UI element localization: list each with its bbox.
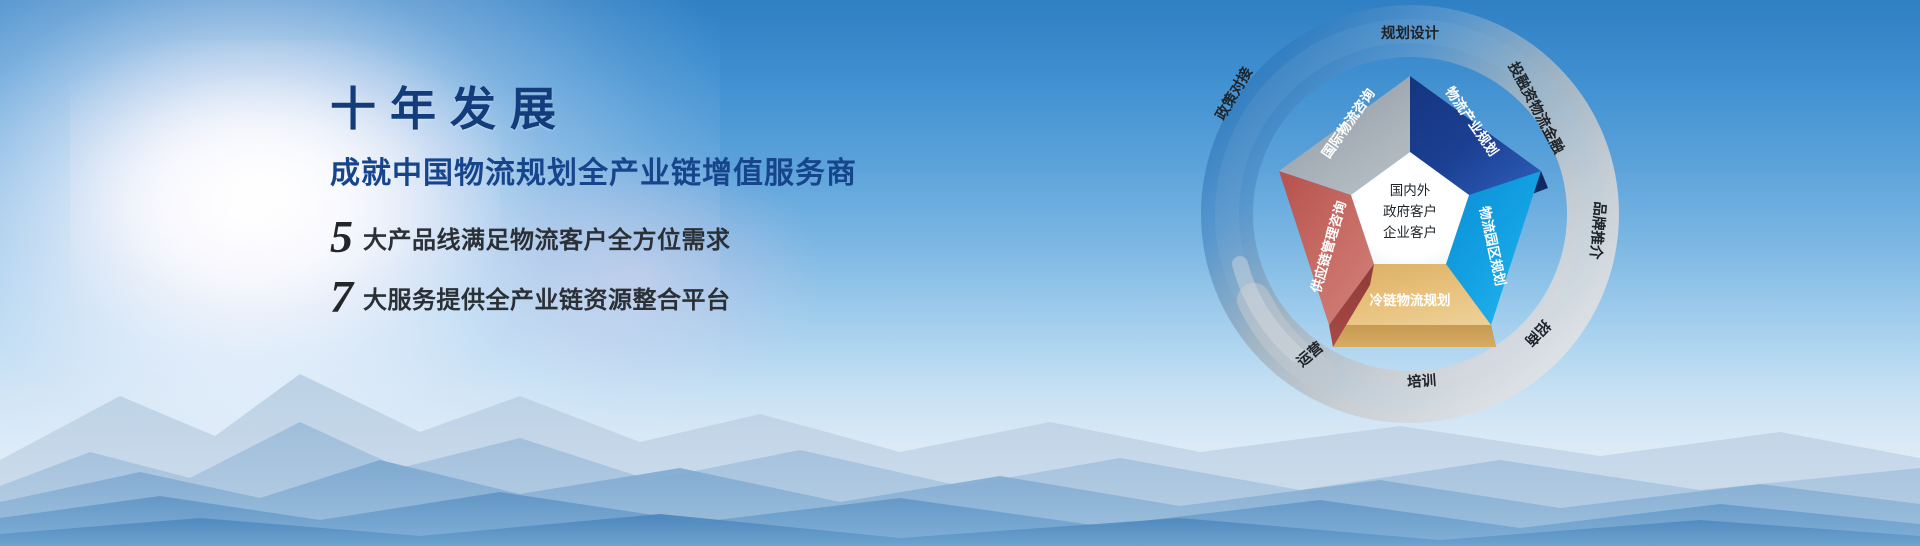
bullet-text: 大产品线满足物流客户全方位需求 bbox=[363, 220, 731, 255]
page-title: 十年发展 bbox=[330, 84, 950, 135]
bullet-number: 7 bbox=[330, 274, 353, 320]
segment-label: 冷链物流规划 bbox=[1370, 292, 1451, 308]
ring-label-planning-design[interactable]: 规划设计 bbox=[1381, 24, 1439, 42]
copy-block: 十年发展 成就中国物流规划全产业链增值服务商 5 大产品线满足物流客户全方位需求… bbox=[330, 84, 950, 330]
core-line-1: 国内外 bbox=[1390, 183, 1431, 198]
core-line-3: 企业客户 bbox=[1383, 224, 1437, 240]
ring-label-training[interactable]: 培训 bbox=[1407, 371, 1437, 391]
core-line-2: 政府客户 bbox=[1383, 203, 1437, 219]
bullet-number: 5 bbox=[330, 214, 353, 260]
mountain-silhouettes bbox=[0, 246, 1920, 546]
pentagon-segments: 物流产业规划 物流园区规划 冷链物流规划 bbox=[1279, 76, 1548, 347]
bullet-item: 7 大服务提供全产业链资源整合平台 bbox=[330, 270, 950, 316]
pentagon-diagram: 物流产业规划 物流园区规划 冷链物流规划 bbox=[1200, 2, 1620, 422]
bullet-text: 大服务提供全产业链资源整合平台 bbox=[363, 280, 731, 315]
page-subtitle: 成就中国物流规划全产业链增值服务商 bbox=[330, 157, 950, 190]
banner-stage: 十年发展 成就中国物流规划全产业链增值服务商 5 大产品线满足物流客户全方位需求… bbox=[0, 0, 1920, 546]
bullet-item: 5 大产品线满足物流客户全方位需求 bbox=[330, 210, 950, 256]
